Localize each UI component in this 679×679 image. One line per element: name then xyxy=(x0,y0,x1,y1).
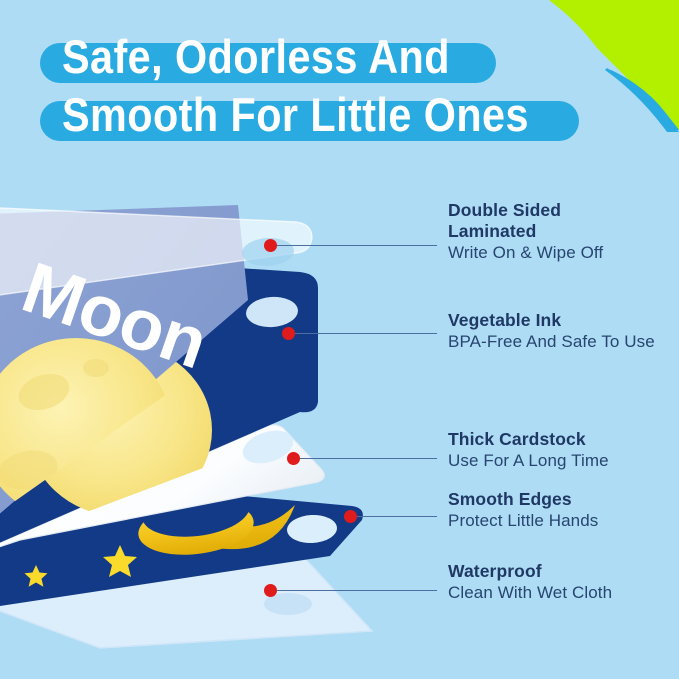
headline-text-2: Smooth For Little Ones xyxy=(62,86,529,144)
feature-callout-waterproof: Waterproof Clean With Wet Cloth xyxy=(448,561,612,604)
feature-callout-thick-cardstock: Thick Cardstock Use For A Long Time xyxy=(448,429,609,472)
feature-subtitle: Protect Little Hands xyxy=(448,510,598,532)
feature-callout-vegetable-ink: Vegetable Ink BPA-Free And Safe To Use xyxy=(448,310,655,353)
feature-title: Double Sided xyxy=(448,200,603,221)
marker-dot-1 xyxy=(264,239,277,252)
marker-dot-5 xyxy=(264,584,277,597)
feature-callout-double-sided-laminated: Double Sided Laminated Write On & Wipe O… xyxy=(448,200,603,264)
marker-dot-4 xyxy=(344,510,357,523)
leader-line-5 xyxy=(270,590,437,591)
feature-title: Waterproof xyxy=(448,561,612,582)
feature-title-line2: Laminated xyxy=(448,221,603,242)
feature-title: Thick Cardstock xyxy=(448,429,609,450)
headline-text-1: Safe, Odorless And xyxy=(62,28,450,86)
feature-subtitle: Write On & Wipe Off xyxy=(448,242,603,264)
product-infographic: Safe, Odorless And Smooth For Little One… xyxy=(0,0,679,679)
marker-dot-3 xyxy=(287,452,300,465)
headline-line-1: Safe, Odorless And xyxy=(0,30,679,88)
feature-title: Smooth Edges xyxy=(448,489,598,510)
leader-line-3 xyxy=(293,458,437,459)
feature-callout-smooth-edges: Smooth Edges Protect Little Hands xyxy=(448,489,598,532)
leader-line-1 xyxy=(270,245,437,246)
leader-line-2 xyxy=(288,333,437,334)
feature-subtitle: BPA-Free And Safe To Use xyxy=(448,331,655,353)
feature-subtitle: Clean With Wet Cloth xyxy=(448,582,612,604)
leader-line-4 xyxy=(350,516,437,517)
feature-subtitle: Use For A Long Time xyxy=(448,450,609,472)
headline: Safe, Odorless And Smooth For Little One… xyxy=(0,30,679,146)
feature-title: Vegetable Ink xyxy=(448,310,655,331)
headline-line-2: Smooth For Little Ones xyxy=(0,88,679,146)
marker-dot-2 xyxy=(282,327,295,340)
